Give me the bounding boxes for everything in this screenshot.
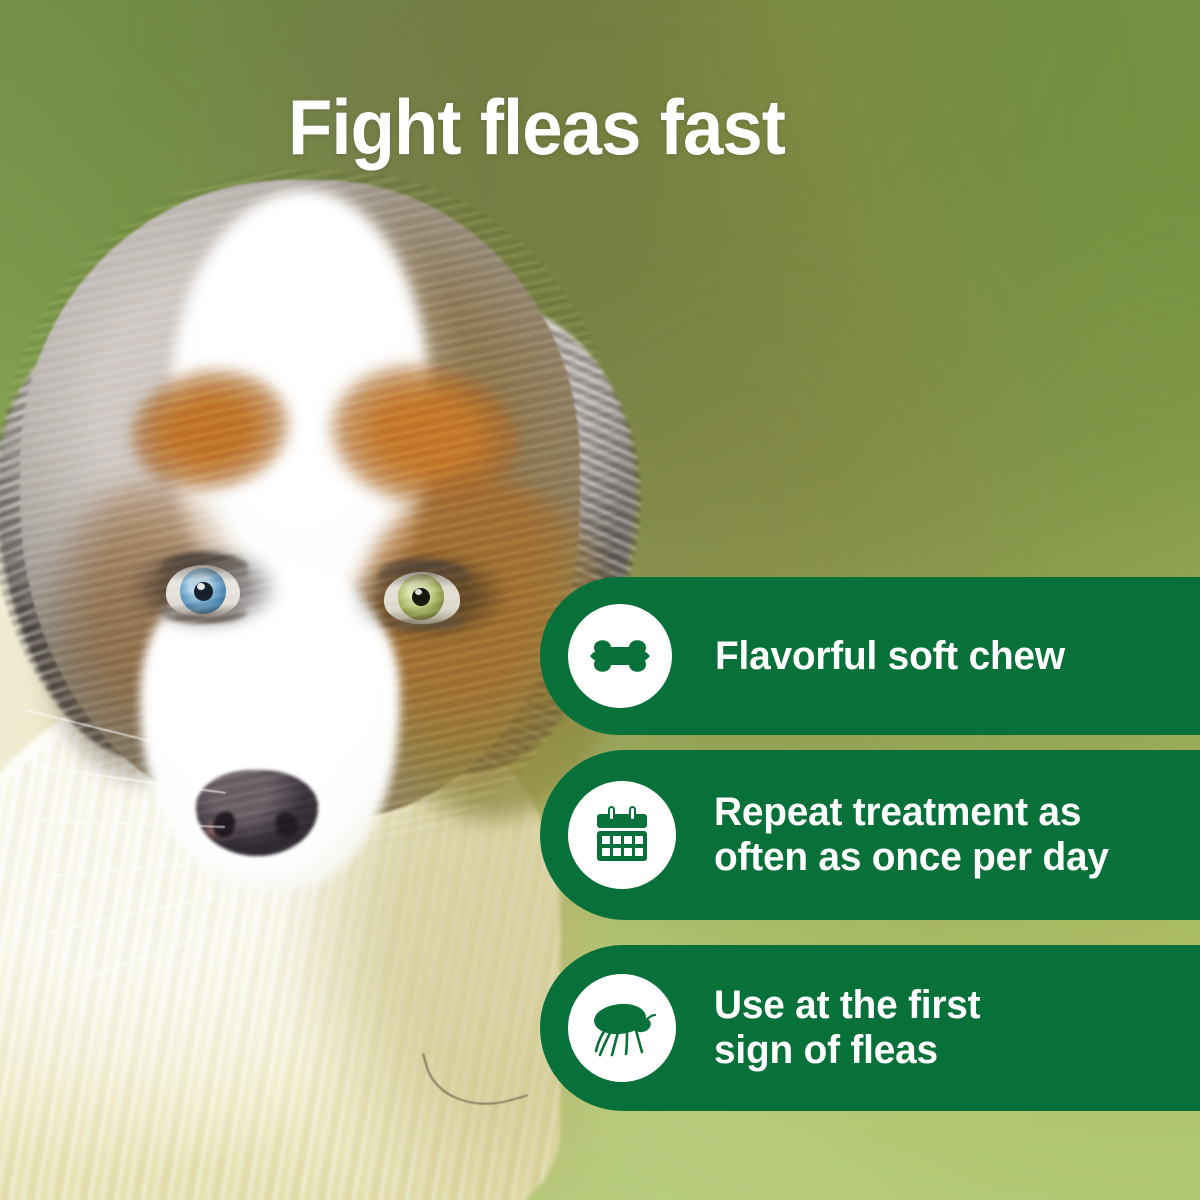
calendar-icon <box>568 781 676 889</box>
feature-item-use-at-first-sign[interactable]: Use at the first sign of fleas <box>540 945 1200 1111</box>
dog-head-fur-texture <box>0 170 620 850</box>
feature-label: Flavorful soft chew <box>715 634 1065 679</box>
page-title: Fight fleas fast <box>288 88 785 166</box>
bone-icon <box>568 604 672 708</box>
feature-label: Use at the first sign of fleas <box>714 983 980 1073</box>
flea-icon <box>568 974 676 1082</box>
feature-item-repeat-treatment[interactable]: Repeat treatment as often as once per da… <box>540 750 1200 920</box>
promo-canvas: Fight fleas fast Flavorful soft chew <box>0 0 1200 1200</box>
feature-label: Repeat treatment as often as once per da… <box>714 790 1109 880</box>
feature-list: Flavorful soft chew <box>540 577 1200 1111</box>
feature-item-flavorful-soft-chew[interactable]: Flavorful soft chew <box>540 577 1200 735</box>
